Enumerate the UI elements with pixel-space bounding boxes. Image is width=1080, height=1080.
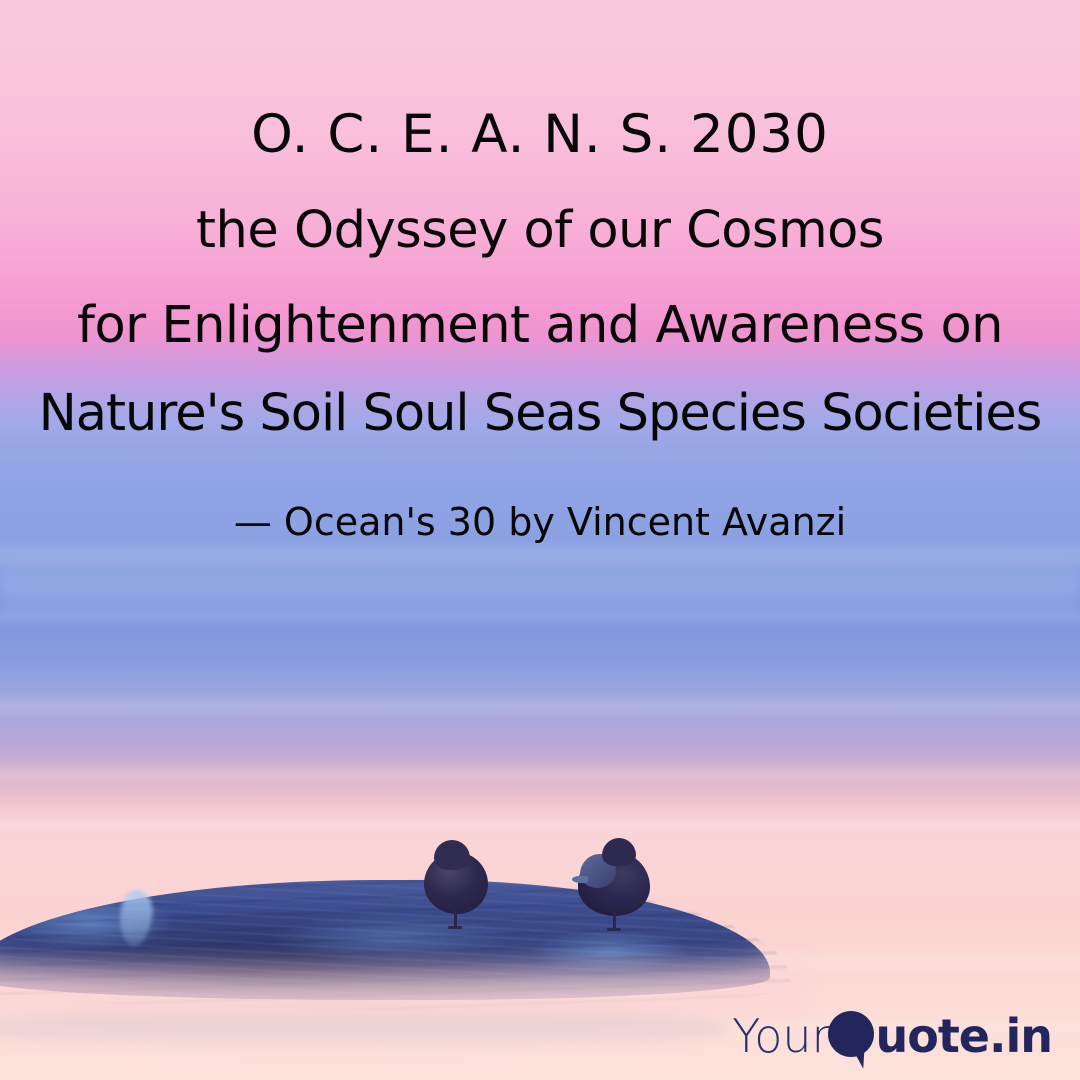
yourquote-watermark[interactable]: Your uote.in [732, 1006, 1052, 1066]
watermark-quote-text: uote.in [875, 1013, 1052, 1059]
quote-line-title: O. C. E. A. N. S. 2030 [0, 104, 1080, 165]
bird-right [572, 838, 658, 930]
haze-band [0, 700, 1080, 712]
watermark-your-text: Your [732, 1013, 830, 1059]
bird-right-foot [607, 928, 621, 931]
bird-right-head [602, 838, 636, 866]
haze-band [0, 820, 1080, 830]
haze-band [0, 768, 1080, 780]
quote-card-canvas: O. C. E. A. N. S. 2030 the Odyssey of ou… [0, 0, 1080, 1080]
haze-band [0, 735, 1080, 751]
quote-line-3: for Enlightenment and Awareness on [0, 296, 1080, 355]
haze-band [0, 650, 1080, 668]
bird-left-head [434, 840, 470, 870]
horizon-glow [0, 555, 1080, 625]
rock-waterline-fade [0, 950, 810, 1020]
bird-right-beak [572, 876, 588, 883]
rock [0, 880, 790, 1010]
quote-attribution: — Ocean's 30 by Vincent Avanzi [0, 500, 1080, 544]
bird-left [424, 840, 496, 928]
quote-line-4: Nature's Soil Soul Seas Species Societie… [0, 384, 1080, 443]
speech-bubble-q-icon [828, 1011, 878, 1061]
bird-left-foot [448, 926, 462, 929]
quote-line-2: the Odyssey of our Cosmos [0, 201, 1080, 260]
